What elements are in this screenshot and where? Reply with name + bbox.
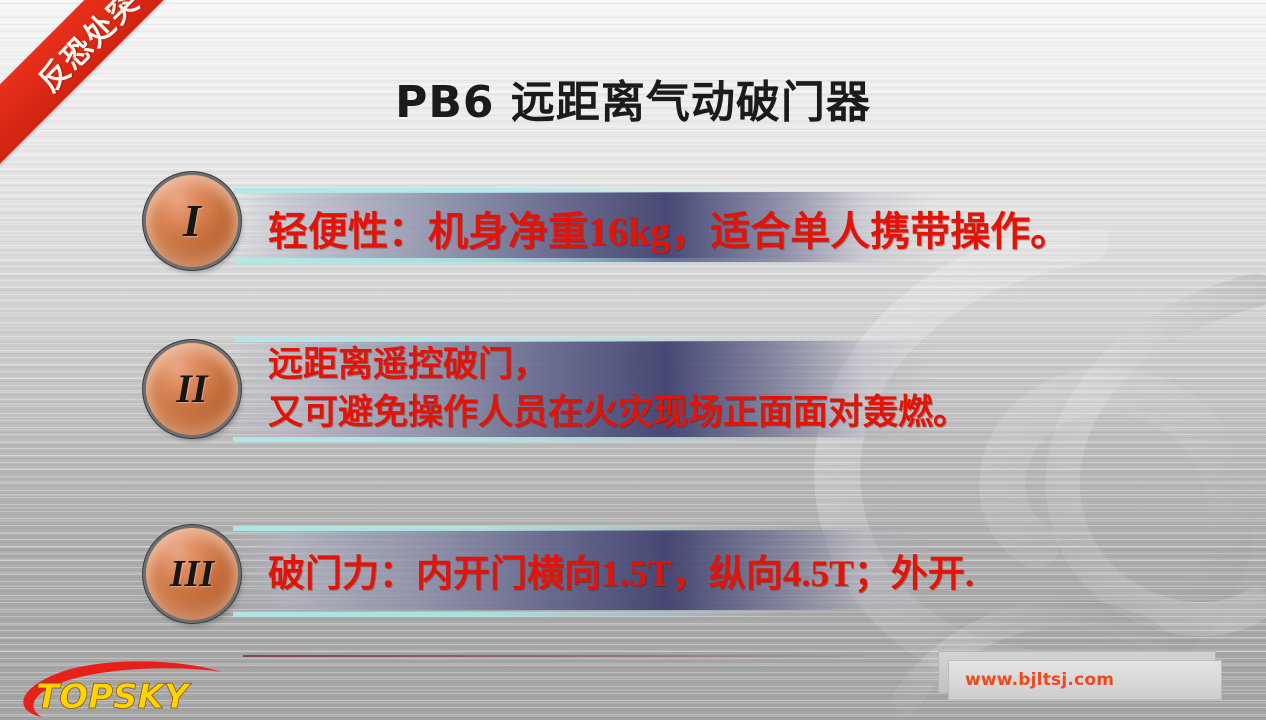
badge-three-label: III xyxy=(170,555,214,593)
row-1-band-bottom-line xyxy=(233,258,793,263)
badge-two: II xyxy=(146,343,238,435)
row-2-line-1: 远距离遥控破门， xyxy=(268,336,548,387)
row-3-band-top-line xyxy=(233,526,793,531)
slide-canvas: 反恐处突 PB6 远距离气动破门器 轻便性：机身净重16kg，适合单人携带操作。… xyxy=(0,0,1266,720)
row-3-band-bottom-line xyxy=(233,612,793,617)
row-3-line-1: 破门力：内开门横向1.5T，纵向4.5T；外开. xyxy=(268,543,974,597)
row-1-band-top-line xyxy=(233,188,793,193)
swirl-watermark xyxy=(786,230,1266,720)
footer-divider xyxy=(243,655,863,657)
badge-two-label: II xyxy=(176,369,207,409)
row-2-line-2: 又可避免操作人员在火灾现场正面面对轰燃。 xyxy=(268,384,968,435)
website-url[interactable]: www.bjltsj.com xyxy=(965,670,1114,690)
logo-wordmark: TOPSKY xyxy=(36,677,192,717)
topsky-logo: TOPSKY xyxy=(8,660,233,718)
badge-one-label: I xyxy=(183,198,201,244)
ribbon-label: 反恐处突 xyxy=(0,0,216,168)
badge-one: I xyxy=(146,175,238,267)
badge-three: III xyxy=(146,528,238,620)
url-plate[interactable]: www.bjltsj.com xyxy=(948,660,1222,700)
row-1-line-1: 轻便性：机身净重16kg，适合单人携带操作。 xyxy=(268,199,1070,257)
corner-ribbon: 反恐处突 xyxy=(0,0,250,170)
row-2-band-bottom-line xyxy=(233,437,793,442)
